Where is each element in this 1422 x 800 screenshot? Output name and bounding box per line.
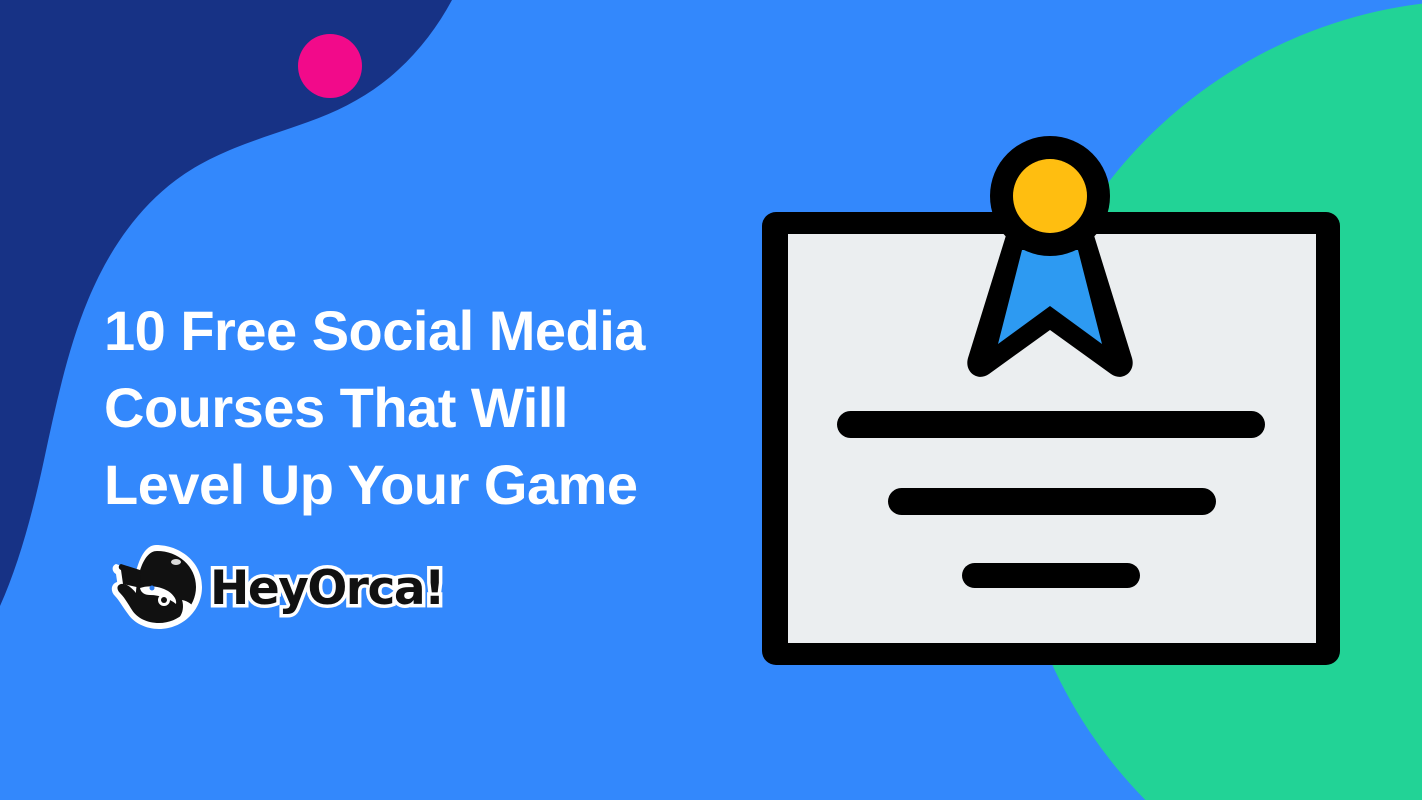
brand-logo[interactable]: HeyOrca! <box>110 542 430 634</box>
certificate-line-3 <box>962 563 1140 588</box>
brand-wordmark: HeyOrca! <box>210 565 444 612</box>
orca-whale-icon <box>110 544 206 632</box>
certificate-award-icon <box>750 120 1360 680</box>
certificate-line-2 <box>888 488 1216 515</box>
pink-dot <box>298 34 362 98</box>
page-title: 10 Free Social Media Courses That Will L… <box>104 292 744 523</box>
medal-disc <box>1013 159 1087 233</box>
social-media-banner: 10 Free Social Media Courses That Will L… <box>0 0 1422 800</box>
certificate-line-1 <box>837 411 1265 438</box>
